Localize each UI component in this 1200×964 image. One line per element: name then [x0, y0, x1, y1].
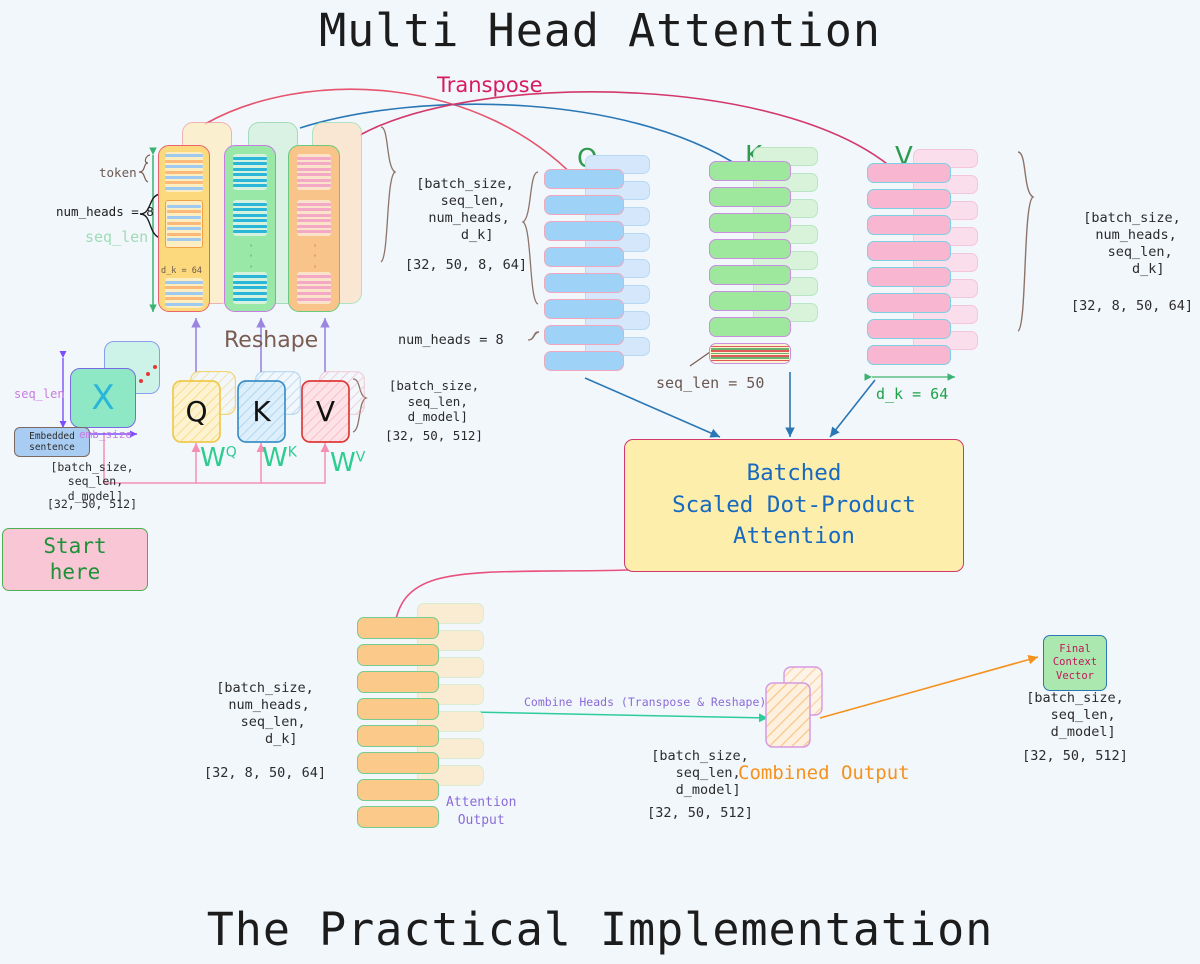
k-stack	[705, 147, 850, 377]
page-subtitle-bottom: The Practical Implementation	[0, 903, 1200, 956]
wv-label: WV	[330, 448, 365, 478]
seq-len-50-note: seq_len = 50	[656, 374, 764, 392]
attention-output-label: AttentionOutput	[446, 794, 516, 829]
embedding-dots	[137, 365, 163, 385]
attention-output-shape-text: [batch_size, num_heads, seq_len, d_k]	[200, 680, 330, 748]
seq-len-label-left: seq_len	[85, 228, 148, 246]
reshaped-v-block: ···	[288, 145, 340, 312]
token-label: token	[99, 165, 137, 180]
attention-output-shape-values: [32, 8, 50, 64]	[190, 765, 340, 782]
combined-output-label: Combined Output	[738, 762, 910, 784]
batched-attention-box[interactable]: Batched Scaled Dot-Product Attention	[624, 439, 964, 572]
embedding-x-block: X	[70, 368, 136, 428]
start-here-badge: Start here	[2, 528, 148, 591]
embedded-pill-line2: sentence	[29, 442, 75, 453]
dk-64-note: d_k = 64	[876, 385, 948, 403]
q-stack	[540, 155, 685, 385]
combined-shape-values: [32, 50, 512]	[640, 805, 760, 822]
wk-label: WK	[262, 443, 297, 473]
final-context-line2: Context	[1053, 656, 1097, 669]
emb-size-axis-label: emb_size	[79, 428, 132, 441]
diagram-canvas: Multi Head Attention The Practical Imple…	[0, 0, 1200, 964]
final-context-vector-box: Final Context Vector	[1043, 635, 1107, 691]
reshaped-shape-text: [batch_size, seq_len, num_heads, d_k]	[400, 176, 530, 244]
page-title: Multi Head Attention	[0, 4, 1200, 57]
attention-box-line3: Attention	[733, 521, 855, 553]
combined-output-block	[765, 682, 811, 748]
start-here-line2: here	[50, 560, 101, 585]
q-projection-letter: Q	[185, 395, 207, 428]
num-heads-note: num_heads = 8	[398, 332, 526, 349]
final-shape-values: [32, 50, 512]	[1005, 748, 1145, 765]
wv-sup: V	[356, 449, 366, 465]
combine-heads-label: Combine Heads (Transpose & Reshape)	[524, 695, 766, 709]
transposed-shape-text: [batch_size, num_heads, seq_len, d_k]	[1068, 210, 1196, 278]
num-heads-label: num_heads = 8	[56, 204, 154, 219]
wq-label: WQ	[200, 443, 237, 473]
reshaped-q-block	[158, 145, 210, 312]
wq-sup: Q	[226, 444, 237, 460]
final-context-line3: Vector	[1056, 670, 1094, 683]
transposed-shape-values: [32, 8, 50, 64]	[1062, 298, 1200, 315]
projection-shape-values: [32, 50, 512]	[374, 428, 494, 444]
combined-shape-text: [batch_size, seq_len, d_model]	[640, 748, 760, 799]
wk-base: W	[262, 443, 288, 473]
wk-sup: K	[288, 444, 297, 460]
final-context-line1: Final	[1059, 643, 1091, 656]
projection-shape-text: [batch_size, seq_len, d_model]	[374, 378, 494, 425]
k-proj-block: K	[237, 380, 286, 443]
embedded-pill-line1: Embedded	[29, 431, 75, 442]
reshaped-shape-values: [32, 50, 8, 64]	[396, 257, 536, 274]
start-here-line1: Start	[43, 534, 106, 559]
k-seq-len-compressed	[709, 343, 791, 364]
embedding-shape-values: [32, 50, 512]	[32, 497, 152, 511]
embedding-x-letter: X	[91, 378, 114, 418]
dk-label-small: d_k = 64	[161, 266, 202, 276]
seq-len-axis-label: seq_len	[14, 387, 65, 401]
attention-box-line2: Scaled Dot-Product	[672, 490, 916, 522]
k-projection-letter: K	[252, 395, 270, 428]
v-proj-block: V	[301, 380, 350, 443]
final-shape-text: [batch_size, seq_len, d_model]	[1005, 690, 1145, 741]
v-stack	[863, 149, 1013, 379]
wq-base: W	[200, 443, 226, 473]
transpose-label: Transpose	[437, 73, 543, 97]
reshaped-k-block: ···	[224, 145, 276, 312]
v-projection-letter: V	[316, 395, 335, 428]
attention-box-line1: Batched	[747, 458, 842, 490]
q-proj-block: Q	[172, 380, 221, 443]
reshape-label: Reshape	[224, 328, 318, 353]
wv-base: W	[330, 448, 356, 478]
